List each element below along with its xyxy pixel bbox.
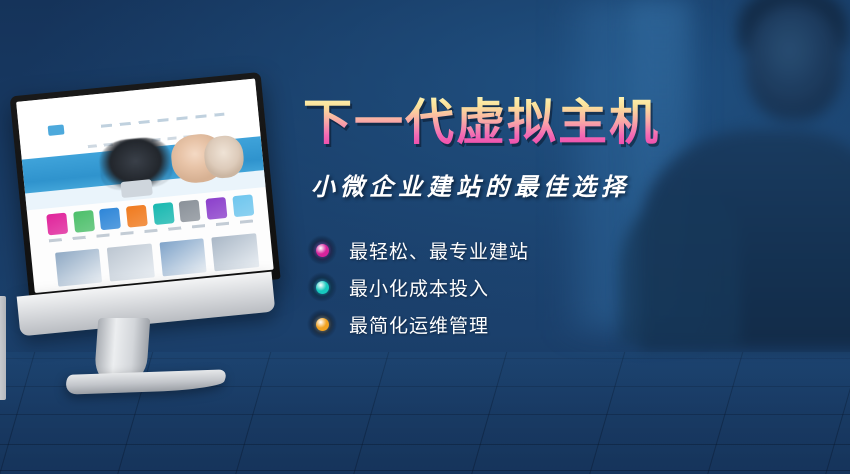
- website-thumbnail-card: [212, 233, 260, 272]
- website-thumbnail-card: [159, 238, 207, 277]
- monitor-bezel: [10, 72, 281, 304]
- website-app-icon: [232, 195, 254, 218]
- banner-subtitle: 小微企业建站的最佳选择: [311, 167, 823, 202]
- floor-tile-band: [0, 444, 850, 454]
- bullet-dot-magenta: [307, 235, 337, 265]
- website-logo: [47, 124, 64, 136]
- floor-horizontal-line: [0, 470, 850, 471]
- website-app-icon: [152, 202, 174, 225]
- bullet-dot-teal: [307, 272, 337, 302]
- bullet-dot: [316, 318, 329, 331]
- feature-list-item-label: 最小化成本投入: [349, 274, 489, 301]
- website-app-icon: [205, 197, 227, 220]
- monitor-stand-foot: [61, 369, 229, 395]
- website-app-icon: [73, 210, 95, 233]
- website-thumbnail-card: [55, 248, 103, 287]
- website-thumbnail-card: [107, 243, 155, 282]
- bullet-dot: [316, 244, 329, 257]
- feature-list-item-label: 最简化运维管理: [349, 311, 489, 338]
- desktop-monitor: [8, 82, 290, 394]
- feature-list: 最轻松、最专业建站最小化成本投入最简化运维管理: [307, 232, 823, 343]
- bullet-dot-orange: [307, 309, 337, 339]
- banner-content: 下一代虚拟主机 小微企业建站的最佳选择 最轻松、最专业建站最小化成本投入最简化运…: [303, 96, 823, 343]
- hero-banner: 下一代虚拟主机 小微企业建站的最佳选择 最轻松、最专业建站最小化成本投入最简化运…: [0, 0, 850, 474]
- bullet-dot: [316, 281, 329, 294]
- website-app-icon: [46, 213, 68, 236]
- feature-list-item-label: 最轻松、最专业建站: [349, 237, 529, 264]
- website-app-icon: [99, 208, 121, 231]
- feature-list-item: 最简化运维管理: [307, 306, 823, 343]
- floor-horizontal-line: [0, 444, 850, 445]
- feature-list-item: 最小化成本投入: [307, 269, 823, 306]
- website-app-icon: [179, 200, 201, 223]
- website-app-icon: [126, 205, 148, 228]
- feature-list-item: 最轻松、最专业建站: [307, 232, 823, 269]
- monitor-side-panel: [0, 296, 6, 400]
- monitor-screen: [16, 79, 274, 294]
- website-hero-product-base: [120, 179, 153, 197]
- floor-horizontal-line: [0, 414, 850, 415]
- banner-title: 下一代虚拟主机: [303, 96, 823, 151]
